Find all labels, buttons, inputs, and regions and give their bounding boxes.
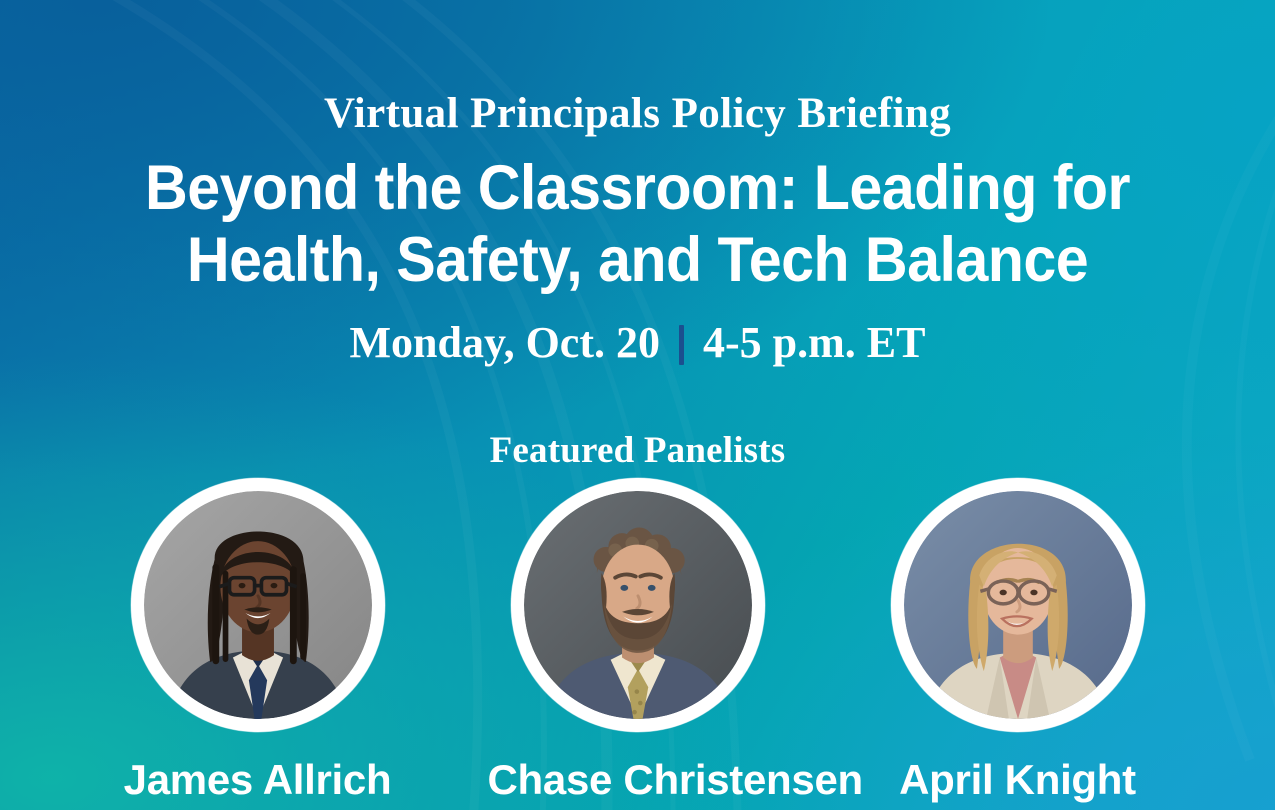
headline-block: Virtual Principals Policy Briefing Beyon… [0,0,1275,472]
event-date: Monday, Oct. 20 [350,319,660,367]
panelist-name: Chase Christensen [488,758,788,802]
featured-panelists-label: Featured Panelists [0,429,1275,472]
avatar-ring [511,478,765,732]
panelists-row: James Allrich [0,478,1275,802]
avatar [144,491,372,719]
datetime-divider [679,325,684,365]
panelist-name: James Allrich [108,758,408,802]
event-time: 4-5 p.m. ET [703,319,925,367]
promo-banner: Virtual Principals Policy Briefing Beyon… [0,0,1275,810]
avatar-ring [131,478,385,732]
page-title: Beyond the Classroom: Leading for Health… [38,153,1237,297]
event-datetime: Monday, Oct. 20 4-5 p.m. ET [0,319,1275,367]
avatar [524,491,752,719]
eyebrow-title: Virtual Principals Policy Briefing [0,92,1275,135]
avatar-ring [891,478,1145,732]
headline-line-2: Health, Safety, and Tech Balance [85,225,1190,297]
panelist-card: Chase Christensen [488,478,788,802]
panelist-card: April Knight [868,478,1168,802]
panelist-card: James Allrich [108,478,408,802]
panelist-name: April Knight [868,758,1168,802]
avatar [904,491,1132,719]
headline-line-1: Beyond the Classroom: Leading for [85,153,1190,225]
